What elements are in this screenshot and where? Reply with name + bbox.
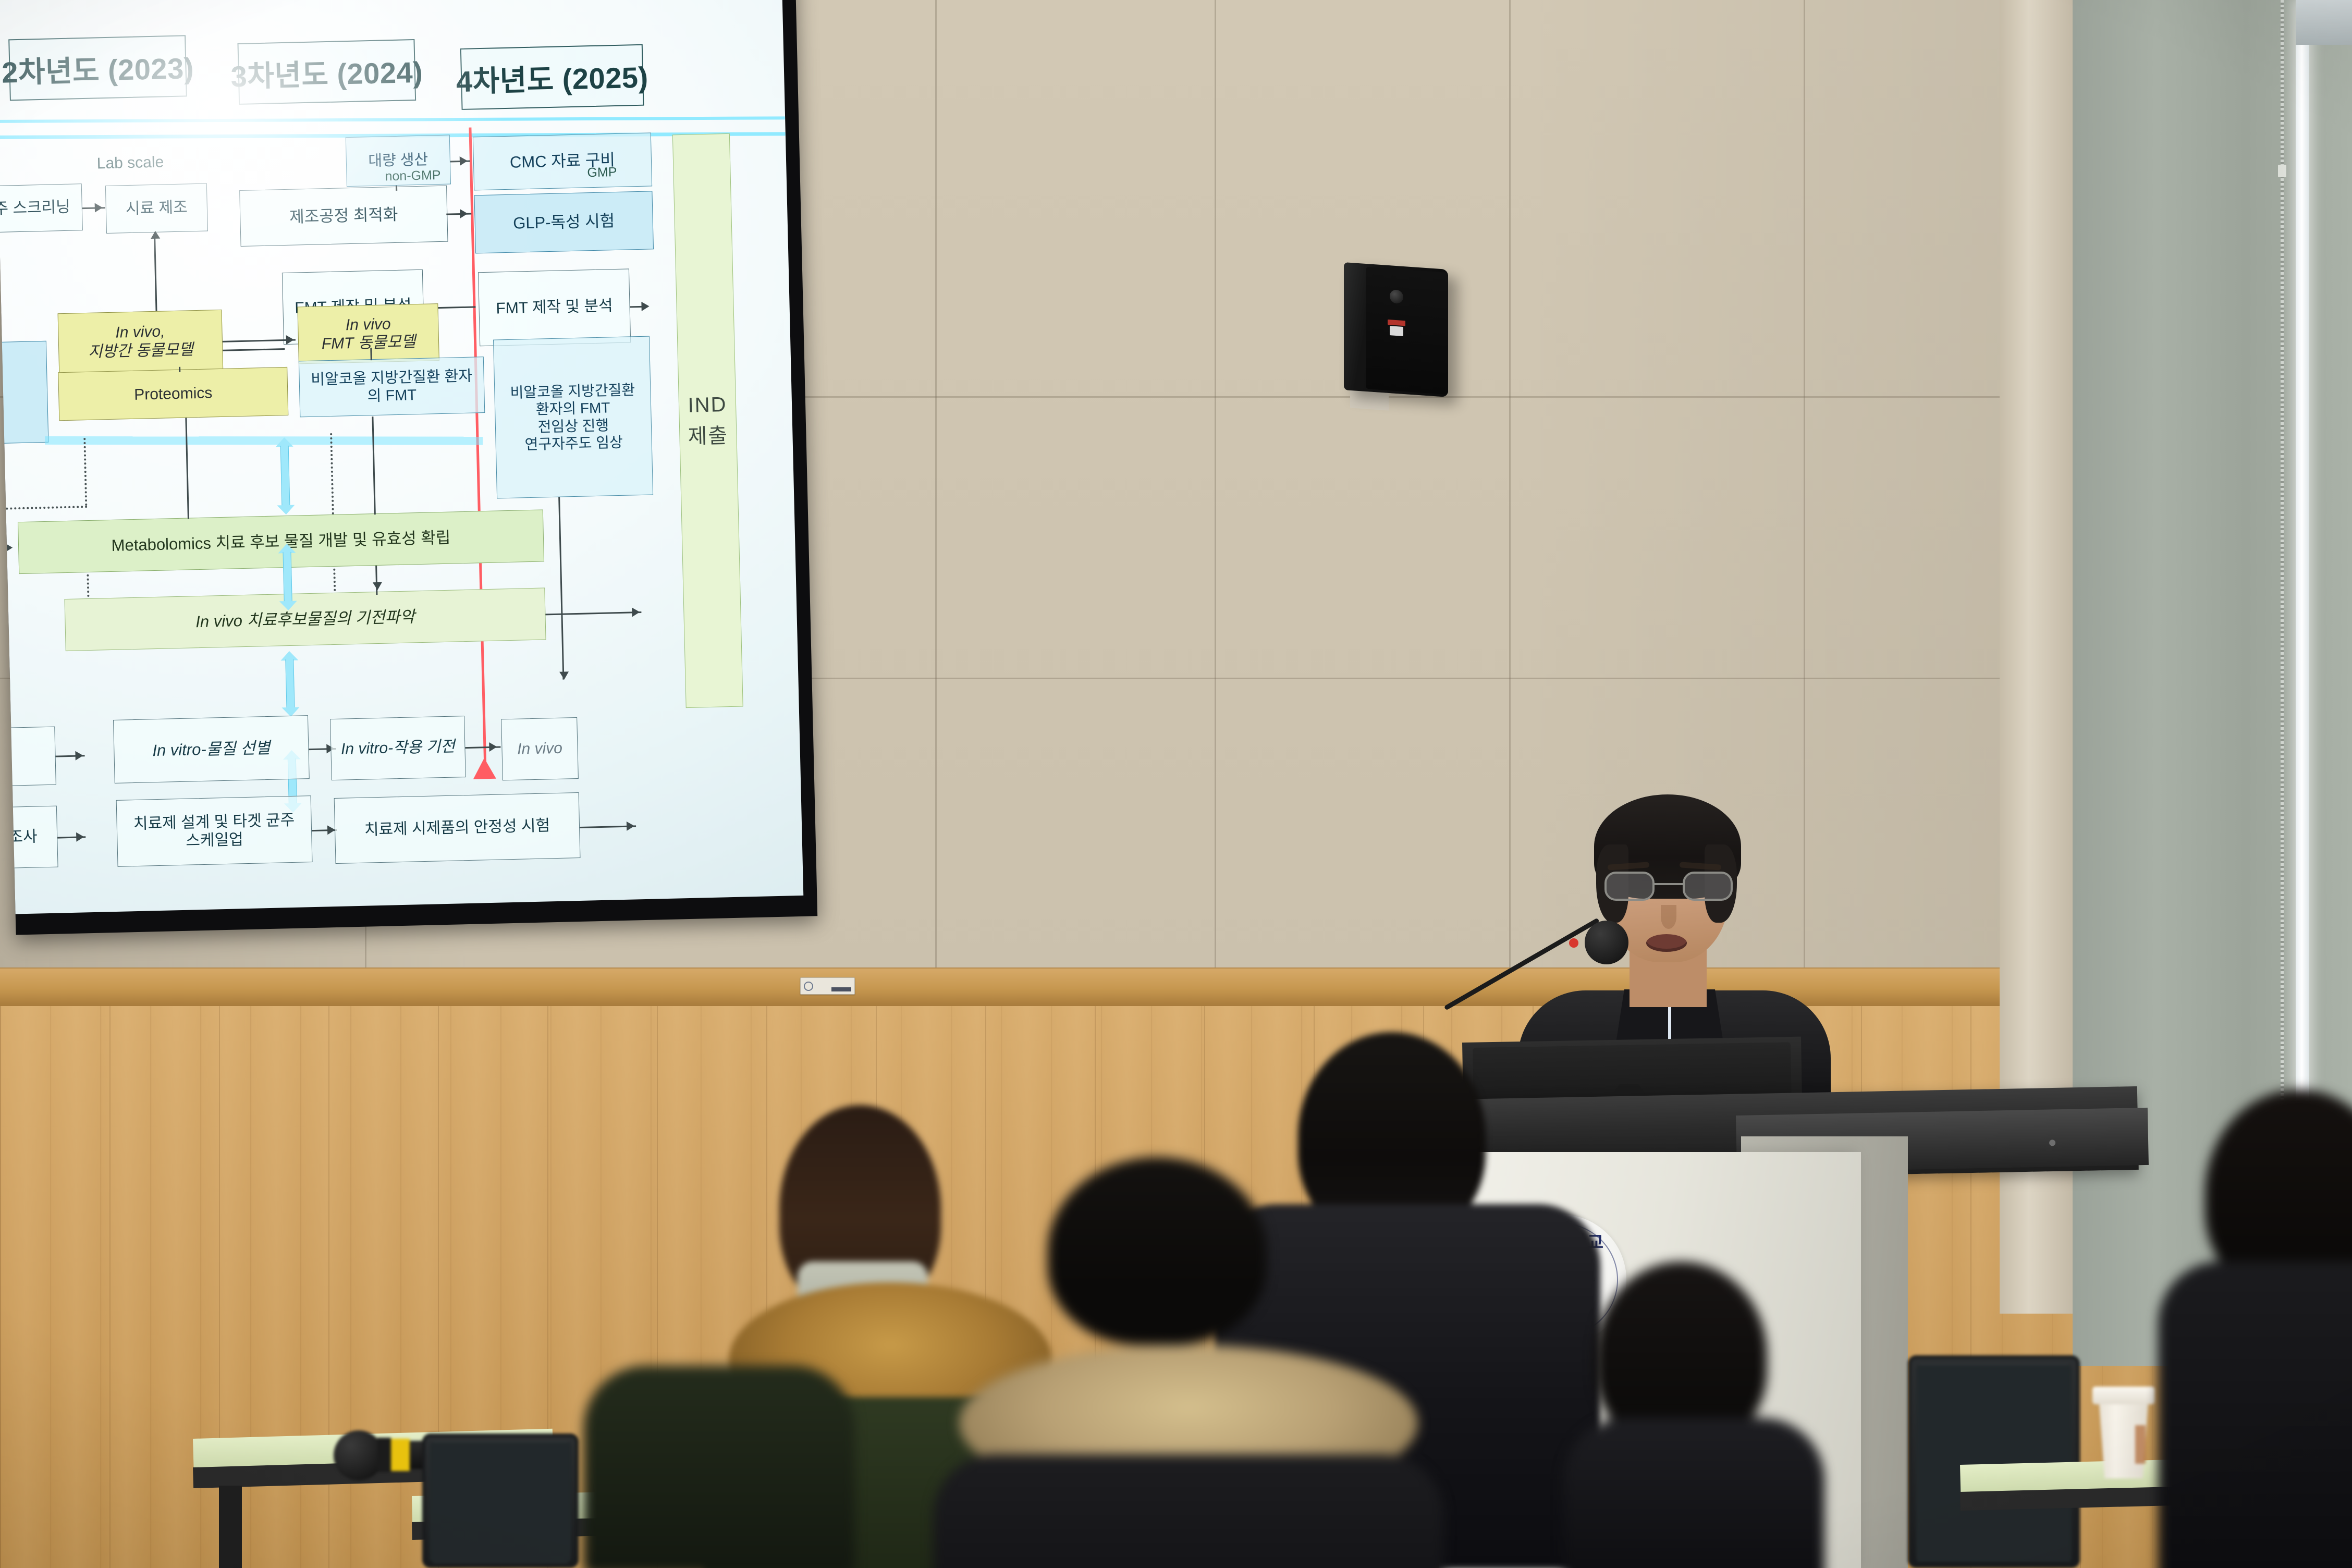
- connector: [179, 367, 180, 372]
- wall-speaker: [1344, 262, 1448, 397]
- wall-outlet-plate[interactable]: [800, 977, 855, 995]
- node-process-optimization: 제조공정 최적화: [239, 186, 448, 247]
- arrow-icon: [489, 742, 497, 752]
- node-in-vivo-mechanism: In vivo 치료후보물질의 기전파악: [64, 587, 546, 651]
- microphone-led-indicator: [1569, 938, 1578, 948]
- panel-seam: [1215, 0, 1216, 980]
- arrow-icon: [627, 821, 634, 830]
- arrow-icon: [151, 231, 160, 239]
- microphone-capsule-icon: [334, 1430, 384, 1480]
- arrow-icon: [76, 832, 84, 841]
- non-gmp-label: non-GMP: [385, 168, 441, 185]
- arrow-icon: [641, 302, 649, 311]
- coat-body: [1564, 1418, 1824, 1568]
- node-stability-test: 치료제 시제품의 안정성 시험: [334, 792, 581, 864]
- node-left-blue-block: [0, 341, 48, 445]
- presentation-slide: 2차년도 (2023) 3차년도 (2024) 4차년도 (2025) IND …: [0, 0, 803, 914]
- coat-body: [933, 1454, 1444, 1568]
- node-in-vivo-small: In vivo: [501, 717, 579, 780]
- podium-microphone-head[interactable]: [1585, 921, 1628, 964]
- node-nafld-clinical-trial: 비알코올 지방간질환 환자의 FMT 전임상 진행 연구자주도 임상: [493, 336, 653, 499]
- cyan-divider: [0, 116, 785, 123]
- audience-member-bottom-center: [1564, 1261, 1824, 1568]
- node-strain-screening: 균주 스크리닝: [0, 183, 83, 233]
- audience-member-bottom-left: [584, 1366, 855, 1568]
- node-fmt-production-y4: FMT 제작 및 분석: [478, 268, 631, 346]
- connector: [396, 186, 397, 191]
- connector: [370, 348, 372, 360]
- ind-label-line2: 제출: [688, 420, 729, 452]
- coat-body: [2158, 1261, 2352, 1568]
- node-in-vitro-screening: In vitro-물질 선별: [113, 715, 310, 783]
- arrow-icon: [460, 209, 468, 218]
- gmp-label: GMP: [587, 165, 617, 180]
- blind-headrail: [2296, 0, 2352, 45]
- ind-submission-band: IND 제출: [672, 133, 743, 708]
- blind-chain-clip: [2278, 165, 2286, 177]
- projection-surface: 2차년도 (2023) 3차년도 (2024) 4차년도 (2025) IND …: [0, 0, 803, 914]
- presenter-mouth: [1646, 934, 1687, 952]
- node-nafld-patient-fmt: 비알코올 지방간질환 환자 의 FMT: [299, 357, 485, 417]
- lecture-hall-photo: 2차년도 (2023) 3차년도 (2024) 4차년도 (2025) IND …: [0, 0, 2352, 1568]
- connector: [372, 416, 375, 514]
- node-glp-tox-test: GLP-독성 시험: [474, 191, 654, 253]
- audience-member-right-silhouette: [2179, 1089, 2352, 1568]
- chair-back-left[interactable]: [422, 1434, 579, 1568]
- arrow-icon: [460, 156, 468, 166]
- node-in-vitro-mechanism: In vitro-작용 기전: [330, 716, 466, 780]
- node-sample-prep: 시료 제조: [105, 183, 208, 234]
- glasses-icon: [1604, 872, 1733, 903]
- arrow-icon: [632, 607, 640, 617]
- panel-seam: [935, 0, 937, 980]
- dotted-connector: [83, 438, 87, 506]
- bidirectional-arrow-icon: [275, 437, 295, 515]
- connector: [185, 418, 189, 519]
- milestone-red-arrow-icon: [473, 758, 496, 779]
- wood-chair-rail: [0, 967, 2169, 1006]
- speaker-grille: [1366, 267, 1448, 395]
- chair-back-right[interactable]: [1908, 1355, 2080, 1568]
- arrow-icon: [286, 335, 294, 345]
- arrow-icon: [75, 751, 83, 760]
- dotted-connector: [330, 433, 334, 527]
- connector: [558, 497, 564, 680]
- audience-member-tan-fur-hood: [917, 1147, 1449, 1568]
- speaker-logo-icon: [1390, 326, 1403, 336]
- year-box-2023: 2차년도 (2023): [8, 35, 187, 101]
- connector: [545, 611, 641, 615]
- connector: [375, 566, 377, 595]
- bidirectional-arrow-icon: [280, 651, 300, 717]
- arrow-icon: [95, 203, 103, 212]
- arrow-icon: [373, 582, 382, 590]
- audience-hair: [1048, 1157, 1267, 1345]
- node-cmc-data: CMC 자료 구비: [473, 132, 652, 190]
- year-box-2024: 3차년도 (2024): [237, 39, 416, 105]
- desk-leg-left: [219, 1486, 242, 1568]
- microphone-yellow-band: [391, 1439, 410, 1471]
- coat-body: [584, 1366, 855, 1568]
- node-in-vivo-fatty-liver: In vivo, 지방간 동물모델: [58, 310, 224, 373]
- year-box-2025: 4차년도 (2025): [460, 44, 644, 110]
- cyan-highlight-band: [45, 436, 483, 445]
- node-proteomics: Proteomics: [58, 367, 288, 421]
- lab-scale-label: Lab scale: [96, 153, 164, 173]
- dotted-connector: [0, 506, 87, 510]
- ind-label-line1: IND: [688, 389, 727, 421]
- projection-screen: 2차년도 (2023) 3차년도 (2024) 4차년도 (2025) IND …: [0, 0, 817, 935]
- bidirectional-arrow-icon: [278, 544, 297, 611]
- node-in-vivo-fmt-model: In vivo FMT 동물모델: [297, 303, 439, 364]
- node-drug-design-scaleup: 치료제 설계 및 타겟 균주 스케일업: [116, 795, 313, 867]
- arrow-icon: [559, 671, 569, 679]
- microphone-ring: [377, 1438, 391, 1472]
- presenter-nose: [1661, 905, 1676, 929]
- coffee-cup-right[interactable]: [2096, 1387, 2152, 1480]
